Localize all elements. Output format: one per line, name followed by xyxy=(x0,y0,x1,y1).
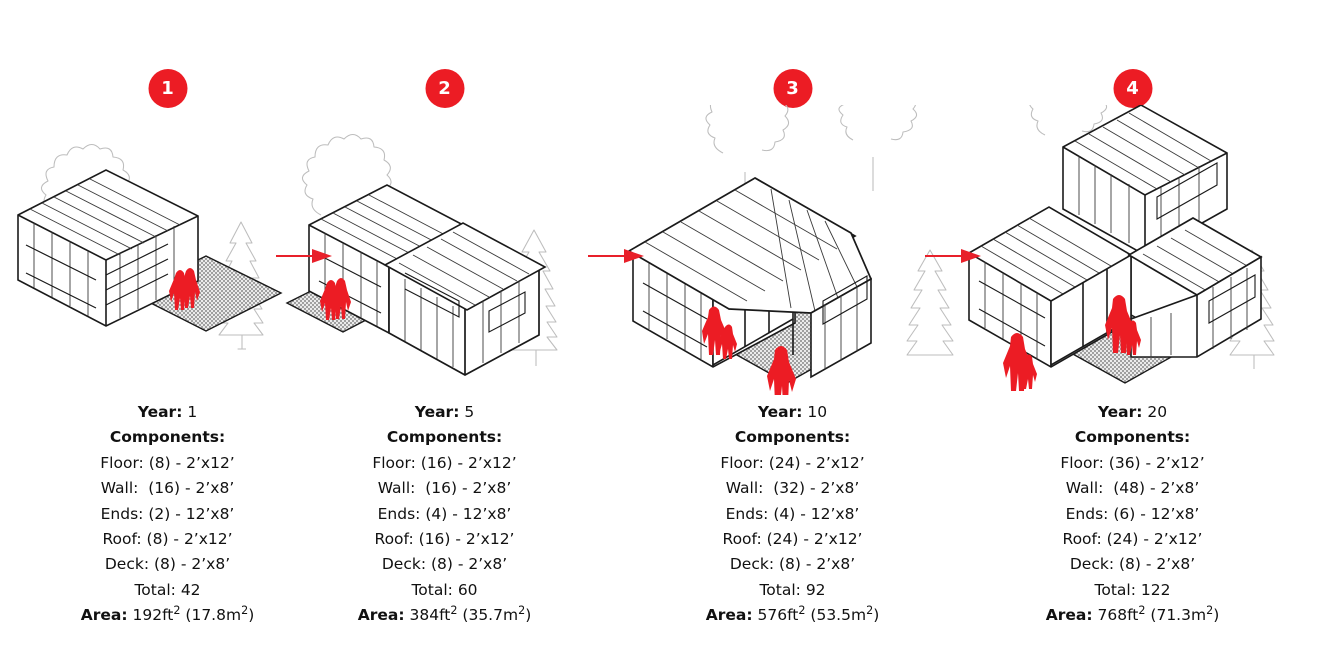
phase-specs-2: Year: 5 Components: Floor: (16) - 2’x12’… xyxy=(277,400,612,629)
tree-outline-icon xyxy=(907,250,953,355)
components-heading: Components: xyxy=(625,425,960,450)
phase-panel-2: 2 xyxy=(277,0,612,665)
tree-outline-icon xyxy=(839,105,917,191)
total-line: Total: 122 xyxy=(965,578,1300,603)
component-row: Deck: (8) - 2’x8’ xyxy=(965,552,1300,577)
arrow-right-icon xyxy=(588,247,644,265)
phase-badge-2: 2 xyxy=(425,69,464,108)
phase-badge-1: 1 xyxy=(148,69,187,108)
component-row: Roof: (24) - 2’x12’ xyxy=(965,527,1300,552)
phase-illustration-4 xyxy=(965,105,1300,395)
component-row: Wall: (48) - 2’x8’ xyxy=(965,476,1300,501)
total-line: Total: 60 xyxy=(277,578,612,603)
component-row: Floor: (36) - 2’x12’ xyxy=(965,451,1300,476)
year-line: Year: 10 xyxy=(625,400,960,425)
phase-specs-3: Year: 10 Components: Floor: (24) - 2’x12… xyxy=(625,400,960,629)
component-row: Ends: (6) - 12’x8’ xyxy=(965,502,1300,527)
phasing-diagram: 1 xyxy=(0,0,1340,665)
phase-illustration-3 xyxy=(625,105,960,395)
phase-badge-3: 3 xyxy=(773,69,812,108)
component-row: Deck: (8) - 2’x8’ xyxy=(625,552,960,577)
area-line: Area: 576ft2 (53.5m2) xyxy=(625,603,960,628)
component-row: Roof: (16) - 2’x12’ xyxy=(277,527,612,552)
components-heading: Components: xyxy=(277,425,612,450)
arrow-right-icon xyxy=(276,247,332,265)
phase-panel-4: 4 xyxy=(965,0,1300,665)
arrow-right-icon xyxy=(925,247,981,265)
component-row: Floor: (16) - 2’x12’ xyxy=(277,451,612,476)
component-row: Wall: (32) - 2’x8’ xyxy=(625,476,960,501)
total-line: Total: 92 xyxy=(625,578,960,603)
component-row: Wall: (16) - 2’x8’ xyxy=(277,476,612,501)
phase-badge-4: 4 xyxy=(1113,69,1152,108)
year-line: Year: 20 xyxy=(965,400,1300,425)
area-line: Area: 768ft2 (71.3m2) xyxy=(965,603,1300,628)
component-row: Ends: (4) - 12’x8’ xyxy=(277,502,612,527)
phase-specs-4: Year: 20 Components: Floor: (36) - 2’x12… xyxy=(965,400,1300,629)
component-row: Ends: (4) - 12’x8’ xyxy=(625,502,960,527)
area-line: Area: 384ft2 (35.7m2) xyxy=(277,603,612,628)
phase-panel-3: 3 xyxy=(625,0,960,665)
component-row: Floor: (24) - 2’x12’ xyxy=(625,451,960,476)
components-heading: Components: xyxy=(965,425,1300,450)
component-row: Deck: (8) - 2’x8’ xyxy=(277,552,612,577)
year-line: Year: 5 xyxy=(277,400,612,425)
component-row: Roof: (24) - 2’x12’ xyxy=(625,527,960,552)
